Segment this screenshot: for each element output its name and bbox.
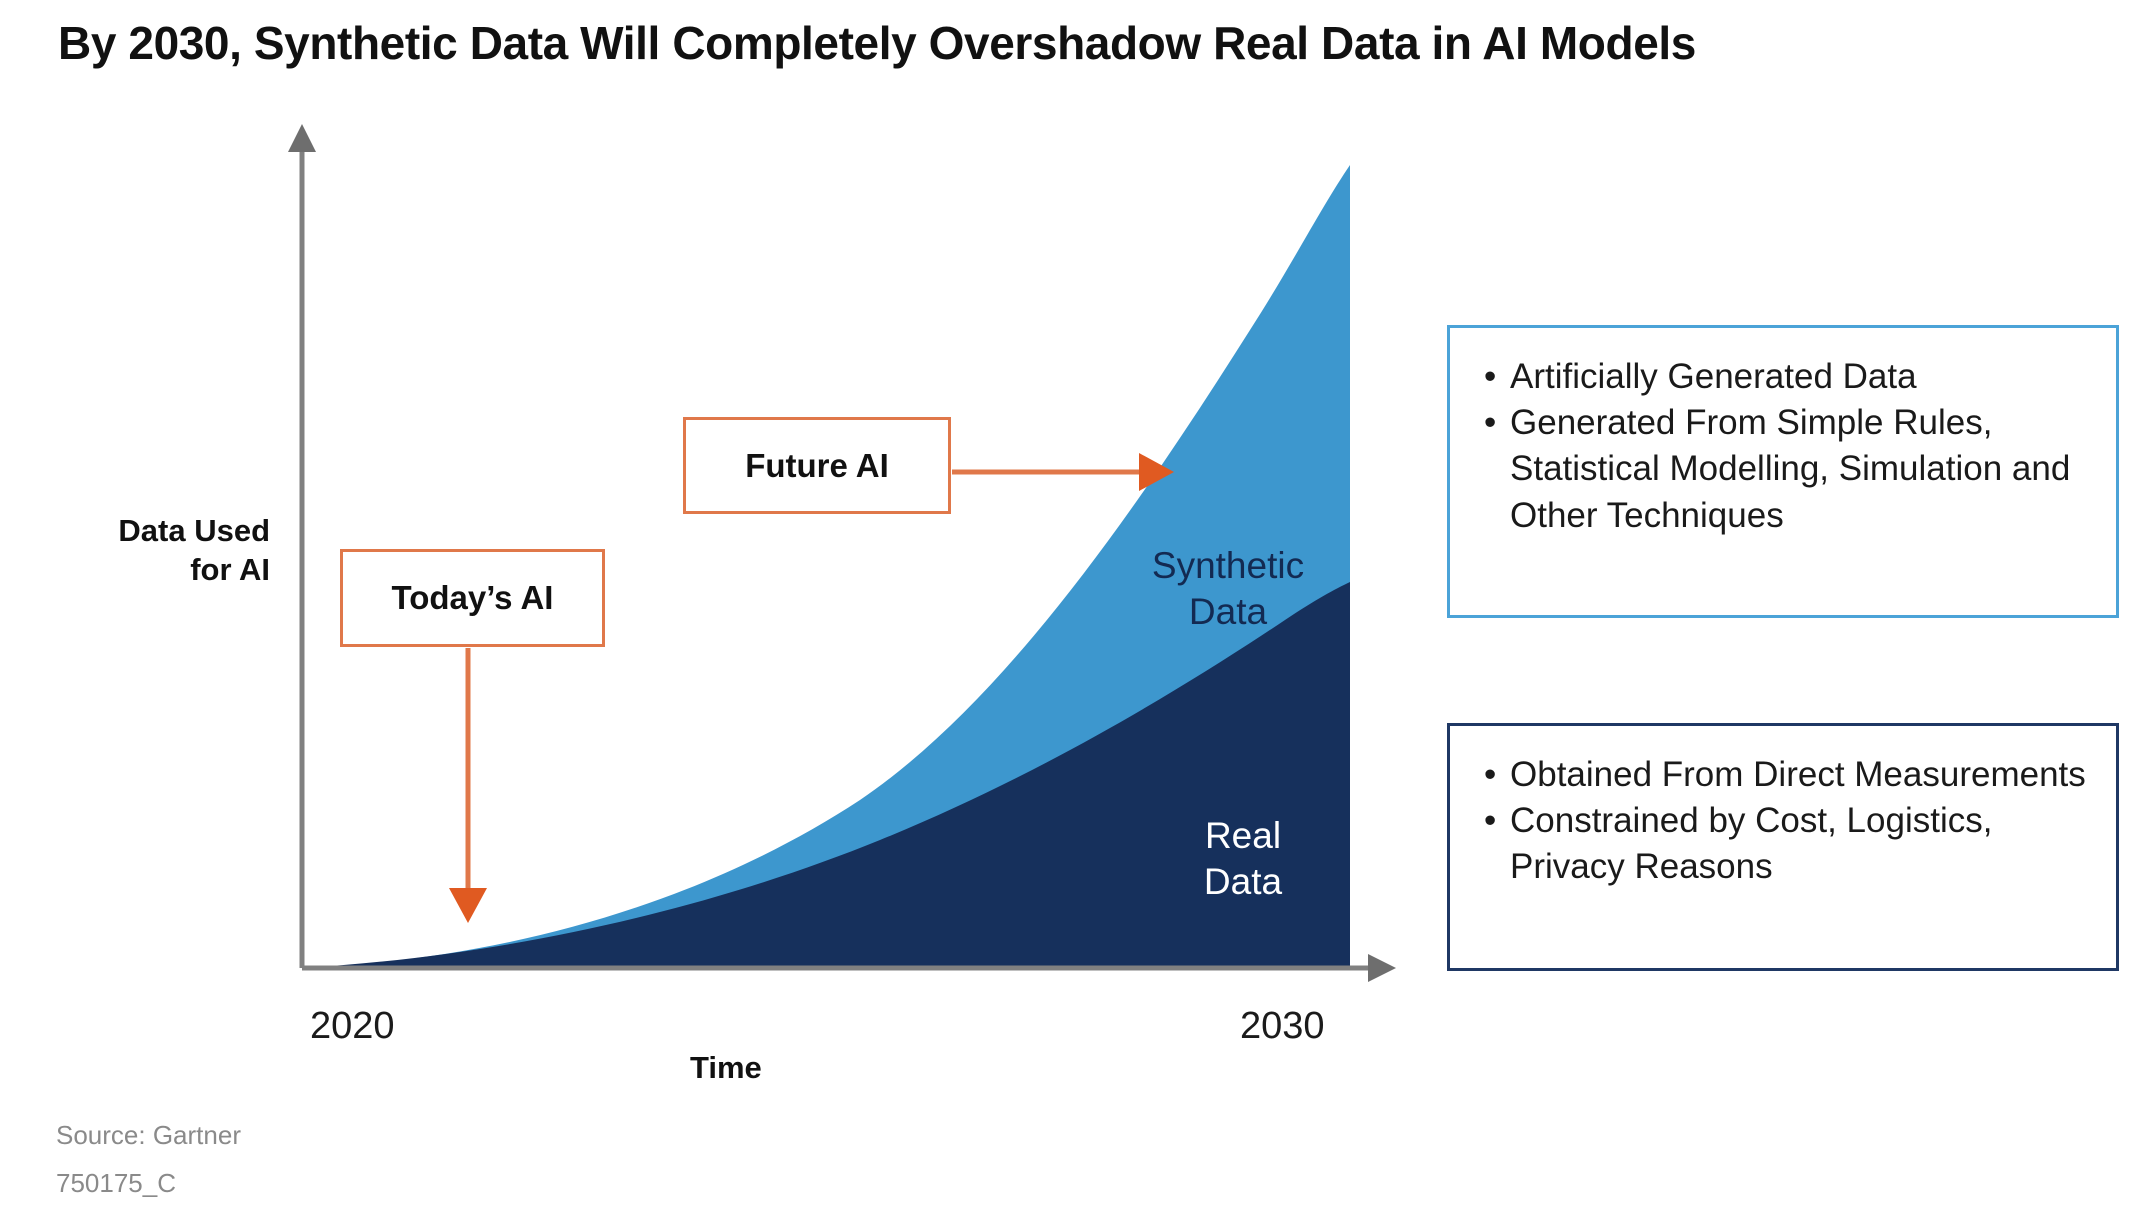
list-item: Constrained by Cost, Logistics, Privacy …: [1480, 798, 2086, 890]
synthetic-data-label-line2: Data: [1128, 589, 1328, 635]
y-axis-arrow-icon: [288, 124, 316, 152]
real-data-bullet-list: Obtained From Direct Measurements Constr…: [1480, 752, 2086, 891]
x-axis-label: Time: [690, 1050, 762, 1086]
future-ai-leader-arrow: [952, 453, 1174, 491]
document-id: 750175_C: [56, 1168, 176, 1199]
chart-plot-area: Data Used for AI Time 2020 2030 Syntheti…: [0, 0, 1460, 1060]
y-axis-label-line2: for AI: [20, 551, 270, 590]
list-item: Artificially Generated Data: [1480, 354, 2086, 400]
real-data-info-box: Obtained From Direct Measurements Constr…: [1447, 723, 2119, 971]
list-item: Generated From Simple Rules, Statistical…: [1480, 400, 2086, 539]
synthetic-data-label-line1: Synthetic: [1128, 543, 1328, 589]
real-data-label-line1: Real: [1158, 813, 1328, 859]
todays-ai-callout: Today’s AI: [340, 549, 605, 647]
y-axis-label: Data Used for AI: [20, 512, 270, 590]
real-data-label-line2: Data: [1158, 859, 1328, 905]
x-tick-2020: 2020: [310, 1005, 395, 1048]
list-item: Obtained From Direct Measurements: [1480, 752, 2086, 798]
synthetic-data-info-box: Artificially Generated Data Generated Fr…: [1447, 325, 2119, 618]
synthetic-data-bullet-list: Artificially Generated Data Generated Fr…: [1480, 354, 2086, 539]
source-note: Source: Gartner: [56, 1120, 241, 1151]
y-axis-label-line1: Data Used: [20, 512, 270, 551]
real-data-label: Real Data: [1158, 813, 1328, 906]
synthetic-data-label: Synthetic Data: [1128, 543, 1328, 636]
todays-ai-leader-arrow: [449, 648, 487, 923]
future-ai-callout: Future AI: [683, 417, 951, 514]
x-axis-arrow-icon: [1368, 954, 1396, 982]
x-tick-2030: 2030: [1240, 1005, 1325, 1048]
down-arrow-icon: [449, 888, 487, 923]
y-axis: [288, 124, 316, 968]
